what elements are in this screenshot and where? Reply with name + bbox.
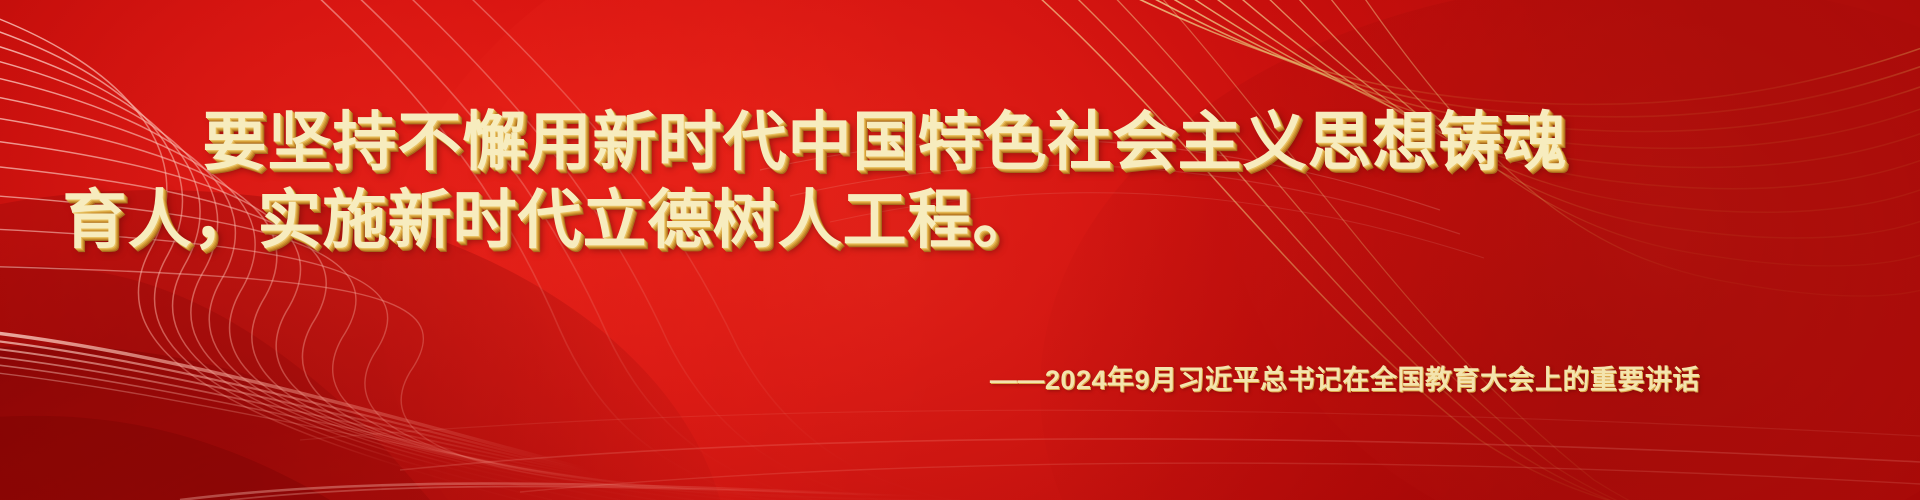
headline-line-2: 育人，实施新时代立德树人工程。 [0, 188, 1100, 252]
slogan-banner: 要坚持不懈用新时代中国特色社会主义思想铸魂 育人，实施新时代立德树人工程。 ——… [0, 0, 1920, 500]
headline-line-1: 要坚持不懈用新时代中国特色社会主义思想铸魂 [0, 110, 1770, 174]
quote-attribution: ——2024年9月习近平总书记在全国教育大会上的重要讲话 [0, 358, 1700, 397]
banner-content: 要坚持不懈用新时代中国特色社会主义思想铸魂 育人，实施新时代立德树人工程。 ——… [0, 0, 1920, 500]
